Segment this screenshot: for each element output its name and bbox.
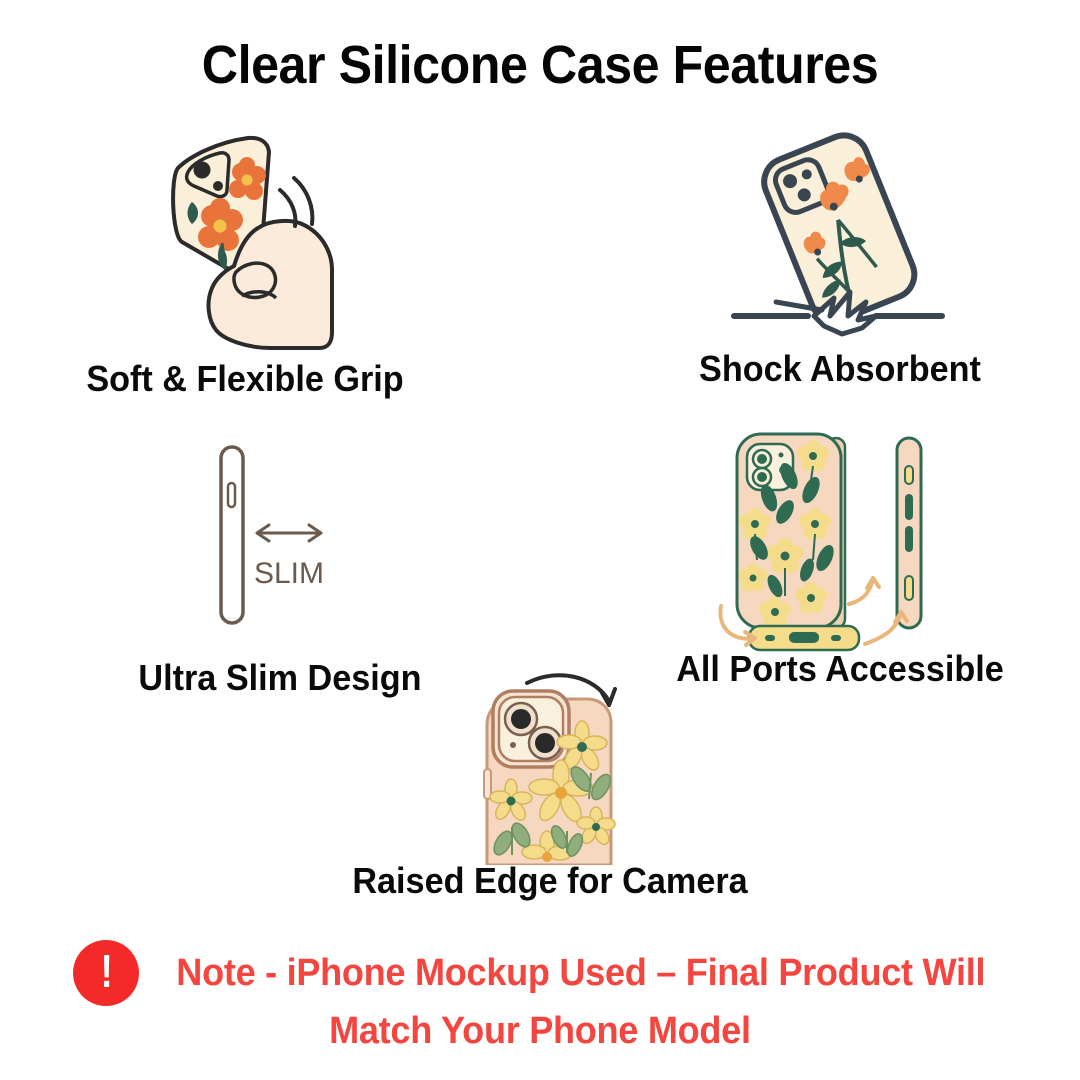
page-title: Clear Silicone Case Features — [38, 34, 1042, 96]
feature-label-raised-edge-for-camera: Raised Edge for Camera — [313, 860, 788, 902]
note-text-line-2: Match Your Phone Model — [329, 1010, 751, 1053]
slim-measure-label: SLIM — [254, 557, 324, 590]
feature-label-ultra-slim-design: Ultra Slim Design — [90, 657, 470, 699]
feature-soft-flexible-grip: Soft & Flexible Grip — [130, 120, 360, 350]
note-line-1: ! Note - iPhone Mockup Used – Final Prod… — [73, 940, 1006, 1006]
exclamation-circle-icon: ! — [73, 940, 139, 1006]
feature-ultra-slim-design: SLIM Ultra Slim Design — [195, 435, 365, 635]
exclamation-glyph: ! — [100, 948, 112, 994]
feature-shock-absorbent: Shock Absorbent — [730, 120, 950, 340]
feature-raised-edge-for-camera: Raised Edge for Camera — [455, 665, 645, 865]
feature-label-all-ports-accessible: All Ports Accessible — [641, 648, 1040, 690]
phone-side-profile-slim-icon: SLIM — [195, 435, 365, 635]
infographic-page: Clear Silicone Case Features — [0, 0, 1080, 1080]
note-text-line-1: Note - iPhone Mockup Used – Final Produc… — [177, 952, 986, 995]
note-disclaimer: ! Note - iPhone Mockup Used – Final Prod… — [0, 940, 1080, 1053]
feature-all-ports-accessible: All Ports Accessible — [715, 420, 945, 655]
hand-holding-flexing-phone-case-icon — [130, 120, 360, 350]
phone-camera-raised-edge-icon — [455, 665, 645, 865]
phone-dropping-impact-icon — [730, 120, 950, 340]
feature-label-shock-absorbent: Shock Absorbent — [655, 348, 1026, 390]
feature-label-soft-flexible-grip: Soft & Flexible Grip — [79, 358, 412, 400]
phone-back-side-bottom-ports-icon — [715, 420, 945, 655]
